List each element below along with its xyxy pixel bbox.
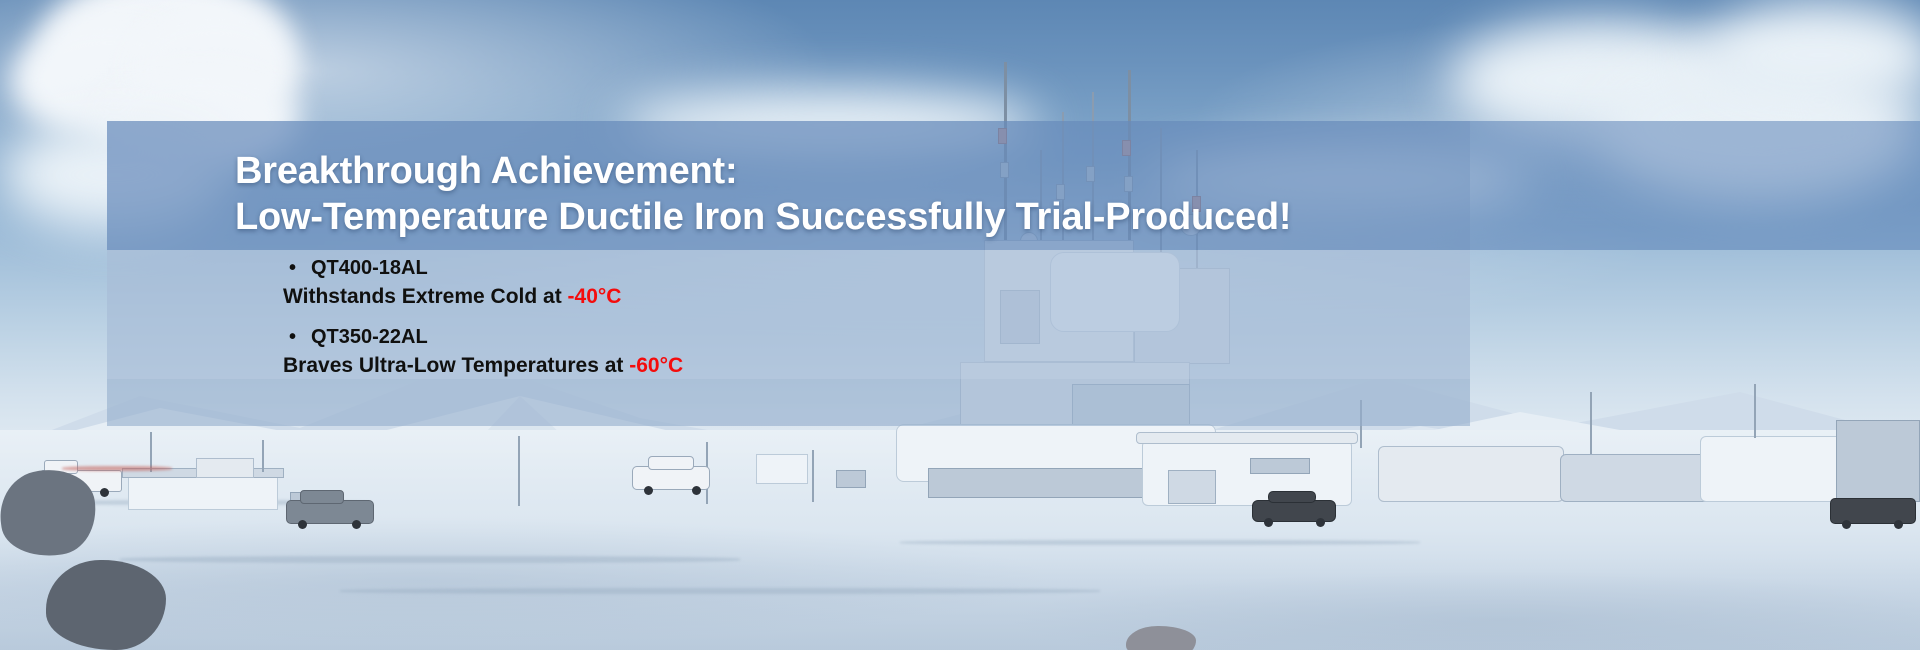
grade-label: QT400-18AL	[311, 258, 428, 278]
van-wheel	[1894, 520, 1903, 529]
van-wheel	[1842, 520, 1851, 529]
bullet-row: • QT400-18AL	[289, 258, 1383, 278]
foreground-rock	[1126, 626, 1196, 650]
overlay-panel-footer	[107, 379, 1470, 426]
banner-image: Breakthrough Achievement: Low-Temperatur…	[0, 0, 1920, 650]
product-bullet-list: • QT400-18AL Withstands Extreme Cold at …	[283, 258, 1383, 376]
utility-pole	[1754, 384, 1756, 438]
suv-wheel	[644, 486, 653, 495]
pickup-cabin	[300, 490, 344, 504]
snow-track	[120, 556, 740, 563]
foreground-rock	[46, 560, 166, 650]
right-hangar-window	[1250, 458, 1310, 474]
pickup-wheel	[298, 520, 307, 529]
utility-pole	[1590, 392, 1592, 454]
bullet-group-qt400: • QT400-18AL Withstands Extreme Cold at …	[283, 258, 1383, 307]
right-module-d	[1836, 420, 1920, 502]
suv-cabin	[648, 456, 694, 470]
utility-pole	[812, 450, 814, 502]
snow-track	[900, 540, 1420, 545]
bullet-row: • QT350-22AL	[289, 327, 1383, 347]
right-hangar-roof	[1136, 432, 1358, 444]
car-wheel	[1316, 518, 1325, 527]
headline-line-2: Low-Temperature Ductile Iron Successfull…	[235, 198, 1895, 236]
headline-line-1: Breakthrough Achievement:	[235, 152, 1895, 190]
headline: Breakthrough Achievement: Low-Temperatur…	[235, 152, 1895, 236]
right-hangar-door	[1168, 470, 1216, 504]
grade-description: Withstands Extreme Cold at -40°C	[283, 286, 1383, 307]
suv-wheel	[692, 486, 701, 495]
pickup-wheel	[352, 520, 361, 529]
grade-label: QT350-22AL	[311, 327, 428, 347]
truck-wheel	[100, 488, 109, 497]
grade-description: Braves Ultra-Low Temperatures at -60°C	[283, 355, 1383, 376]
bullet-group-qt350: • QT350-22AL Braves Ultra-Low Temperatur…	[283, 327, 1383, 376]
utility-pole	[518, 436, 520, 506]
bullet-dot-icon: •	[289, 327, 311, 347]
antenna-pole	[262, 440, 264, 472]
bullet-dot-icon: •	[289, 258, 311, 278]
temperature-value: -60°C	[629, 354, 683, 377]
temperature-value: -40°C	[568, 285, 622, 308]
right-module-a	[1378, 446, 1564, 502]
car-wheel	[1264, 518, 1273, 527]
yard-crate	[836, 470, 866, 488]
left-outpost-building	[128, 474, 278, 510]
car-cabin	[1268, 491, 1316, 503]
right-module-b	[1560, 454, 1710, 502]
yard-shed	[756, 454, 808, 484]
left-outpost-annex	[196, 458, 254, 478]
snow-marker-line	[62, 466, 172, 471]
description-text: Withstands Extreme Cold at	[283, 285, 568, 308]
snow-track	[340, 588, 1100, 594]
description-text: Braves Ultra-Low Temperatures at	[283, 354, 629, 377]
